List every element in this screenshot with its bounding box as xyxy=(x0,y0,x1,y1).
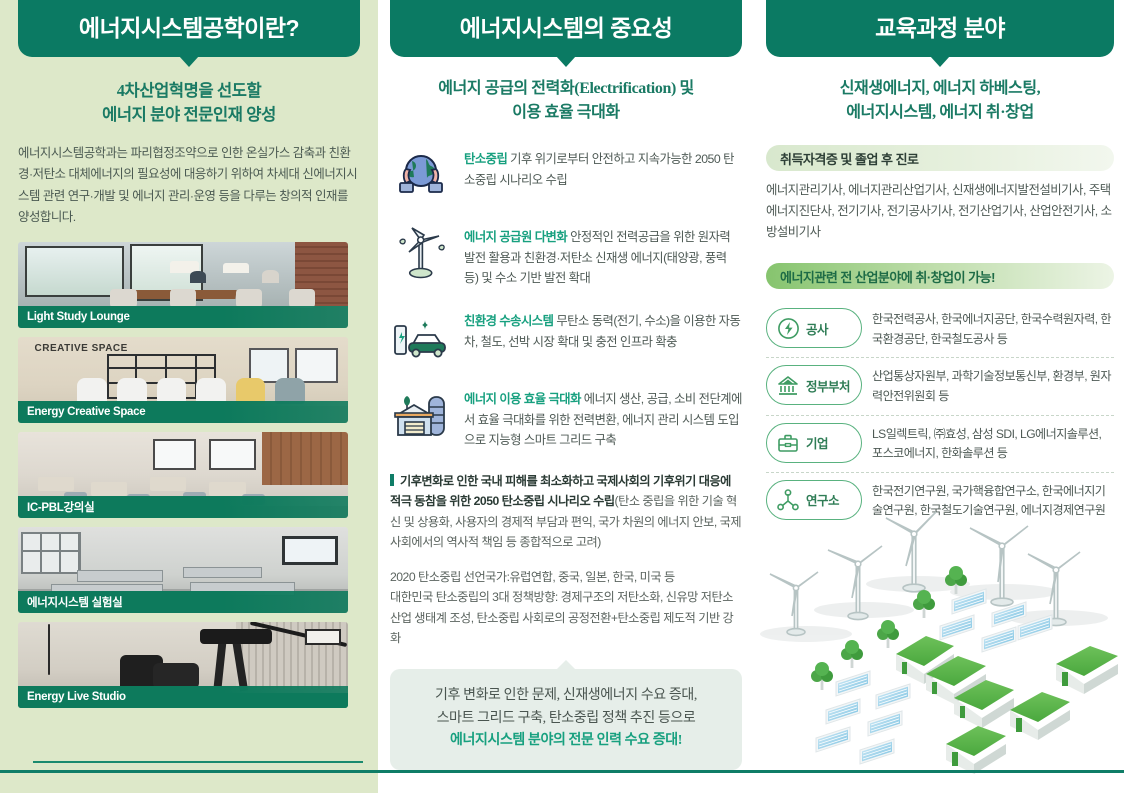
list-item-text: 에너지 이용 효율 극대화 에너지 생산, 공급, 소비 전단계에서 효율 극대… xyxy=(464,387,742,451)
tripod-shape xyxy=(213,637,227,691)
employer-text: 산업통상자원부, 과학기술정보통신부, 환경부, 원자력안전위원회 등 xyxy=(872,365,1114,406)
eco-factory-icon xyxy=(390,387,452,445)
right-subtitle-line2: 에너지시스템, 에너지 취·창업 xyxy=(766,101,1114,125)
left-column: 에너지시스템공학이란? 4차산업혁명을 선도할 에너지 분야 전문인재 양성 에… xyxy=(0,0,378,793)
employer-badge-label: 기업 xyxy=(806,433,828,452)
employer-badge-label: 공사 xyxy=(806,319,828,338)
list-item: 탄소중립 기후 위기로부터 안전하고 지속가능한 2050 탄소중립 시나리오 … xyxy=(390,147,742,205)
photo-card: Light Study Lounge xyxy=(18,242,348,328)
left-divider-rule xyxy=(33,761,363,763)
employer-badge: 정부부처 xyxy=(766,365,862,405)
list-item: 공사 한국전력공사, 한국에너지공단, 한국수력원자력, 한국환경공단, 한국철… xyxy=(766,301,1114,357)
renewable-village-illustration xyxy=(746,492,1124,774)
callout-line2: 스마트 그리드 구축, 탄소중립 정책 추진 등으로 xyxy=(400,708,732,731)
jobs-pill: 에너지관련 전 산업분야에 취·창업이 가능! xyxy=(766,263,1114,289)
studio-light-shape xyxy=(305,629,341,644)
left-section-header: 에너지시스템공학이란? xyxy=(18,0,360,57)
left-subtitle-line2: 에너지 분야 전문인재 양성 xyxy=(18,103,360,127)
wood-wall-shape xyxy=(262,432,348,485)
list-item: 기업 LS일렉트릭, ㈜효성, 삼성 SDI, LG에너지솔루션, 포스코에너지… xyxy=(766,415,1114,472)
right-section-header: 교육과정 분야 xyxy=(766,0,1114,57)
briefcase-icon xyxy=(776,431,800,455)
right-subtitle-line1: 신재생에너지, 에너지 하베스팅, xyxy=(766,77,1114,101)
photo-caption: Energy Live Studio xyxy=(18,686,348,708)
importance-item-list: 탄소중립 기후 위기로부터 안전하고 지속가능한 2050 탄소중립 시나리오 … xyxy=(390,147,742,451)
note-block-2: 2020 탄소중립 선언국가:유럽연합, 중국, 일본, 한국, 미국 등 대한… xyxy=(390,567,742,649)
desk-shape xyxy=(209,482,245,496)
chair-shape xyxy=(170,289,196,308)
certification-pill: 취득자격증 및 졸업 후 진로 xyxy=(766,145,1114,171)
list-item-text: 탄소중립 기후 위기로부터 안전하고 지속가능한 2050 탄소중립 시나리오 … xyxy=(464,147,742,190)
jobs-pill-label: 에너지관련 전 산업분야에 취·창업이 가능! xyxy=(780,267,995,286)
chair-shape xyxy=(110,289,136,308)
left-body-text: 에너지시스템공학과는 파리협정조약으로 인한 온실가스 감축과 친환경·저탄소 … xyxy=(18,143,360,228)
camera-shape xyxy=(200,629,273,644)
government-building-icon xyxy=(776,373,800,397)
cabinet-shape xyxy=(21,532,80,573)
cable-shape xyxy=(48,624,50,676)
right-subtitle: 신재생에너지, 에너지 하베스팅, 에너지시스템, 에너지 취·창업 xyxy=(766,77,1114,125)
photo-caption: IC-PBL강의실 xyxy=(18,496,348,518)
desk-shape xyxy=(38,477,74,491)
note-block-1: 기후변화로 인한 국내 피해를 최소화하고 국제사회의 기후위기 대응에 적극 … xyxy=(390,471,742,553)
left-subtitle-line1: 4차산업혁명을 선도할 xyxy=(18,79,360,103)
list-item-text: 에너지 공급원 다변화 안정적인 전력공급을 위한 원자력 발전 활용과 친환경… xyxy=(464,225,742,289)
middle-column: 에너지시스템의 중요성 에너지 공급의 전력화(Electrification)… xyxy=(390,0,742,770)
photo-caption: Light Study Lounge xyxy=(18,306,348,328)
list-item-text: 친환경 수송시스템 무탄소 동력(전기, 수소)을 이용한 자동차, 철도, 선… xyxy=(464,309,742,352)
earth-in-hands-icon xyxy=(390,147,452,205)
facility-photo-list: Light Study Lounge CREATIVE SPACE Energy xyxy=(18,242,360,708)
certification-text: 에너지관리기사, 에너지관리산업기사, 신재생에너지발전설비기사, 주택에너지진… xyxy=(766,180,1114,243)
bottom-divider-rule xyxy=(0,770,1124,773)
employer-badge-label: 정부부처 xyxy=(806,376,850,395)
callout-line3: 에너지시스템 분야의 전문 인력 수요 증대! xyxy=(400,730,732,753)
lightning-bolt-icon xyxy=(776,316,800,340)
window-shape xyxy=(25,246,124,298)
desk-shape xyxy=(91,482,127,496)
photo-card: IC-PBL강의실 xyxy=(18,432,348,518)
lab-bench-shape xyxy=(183,567,262,578)
photo-card: CREATIVE SPACE Energy Creative Space xyxy=(18,337,348,423)
list-item: 친환경 수송시스템 무탄소 동력(전기, 수소)을 이용한 자동차, 철도, 선… xyxy=(390,309,742,367)
list-item-title: 탄소중립 xyxy=(464,152,507,166)
left-header-text: 에너지시스템공학이란? xyxy=(79,17,299,40)
photo-caption: 에너지시스템 실험실 xyxy=(18,591,348,613)
photo-card: Energy Live Studio xyxy=(18,622,348,708)
photo-caption: Energy Creative Space xyxy=(18,401,348,423)
middle-subtitle: 에너지 공급의 전력화(Electrification) 및 이용 효율 극대화 xyxy=(390,77,742,125)
left-subtitle: 4차산업혁명을 선도할 에너지 분야 전문인재 양성 xyxy=(18,79,360,127)
middle-subtitle-line1: 에너지 공급의 전력화(Electrification) 및 xyxy=(390,77,742,101)
brochure-page: 에너지시스템공학이란? 4차산업혁명을 선도할 에너지 분야 전문인재 양성 에… xyxy=(0,0,1124,793)
lab-bench-shape xyxy=(77,570,163,582)
window-shape xyxy=(153,439,196,470)
list-item-title: 에너지 공급원 다변화 xyxy=(464,230,567,244)
chair-shape xyxy=(289,289,315,308)
list-item: 에너지 공급원 다변화 안정적인 전력공급을 위한 원자력 발전 활용과 친환경… xyxy=(390,225,742,289)
note2-rest: 대한민국 탄소중립의 3대 정책방향: 경제구조의 저탄소화, 신유망 저탄소 … xyxy=(390,590,733,645)
middle-section-header: 에너지시스템의 중요성 xyxy=(390,0,742,57)
employer-text: 한국전력공사, 한국에너지공단, 한국수력원자력, 한국환경공단, 한국철도공사… xyxy=(872,308,1114,349)
note2-bold: 2020 탄소중립 선언국가:유럽연합, 중국, 일본, 한국, 미국 등 xyxy=(390,570,675,584)
callout-line1: 기후 변화로 인한 문제, 신재생에너지 수요 증대, xyxy=(400,685,732,708)
person-shape xyxy=(262,270,279,283)
employer-badge: 기업 xyxy=(766,423,862,463)
window-shape xyxy=(282,536,338,565)
window-shape xyxy=(295,348,338,382)
photo-card: 에너지시스템 실험실 xyxy=(18,527,348,613)
ev-charging-car-icon xyxy=(390,309,452,367)
desk-shape xyxy=(150,477,186,491)
list-item: 정부부처 산업통상자원부, 과학기술정보통신부, 환경부, 원자력안전위원회 등 xyxy=(766,357,1114,414)
right-header-text: 교육과정 분야 xyxy=(875,17,1005,40)
conclusion-callout: 기후 변화로 인한 문제, 신재생에너지 수요 증대, 스마트 그리드 구축, … xyxy=(390,669,742,770)
list-item-title: 에너지 이용 효율 극대화 xyxy=(464,392,581,406)
wind-turbine-icon xyxy=(390,225,452,283)
photo-overlay-text: CREATIVE SPACE xyxy=(35,343,128,354)
bullet-bar-icon xyxy=(390,474,394,486)
employer-text: LS일렉트릭, ㈜효성, 삼성 SDI, LG에너지솔루션, 포스코에너지, 한… xyxy=(872,423,1114,464)
window-shape xyxy=(209,439,255,470)
middle-header-text: 에너지시스템의 중요성 xyxy=(460,17,673,40)
chair-shape xyxy=(236,289,262,308)
lamp-shape xyxy=(223,263,249,273)
list-item-title: 친환경 수송시스템 xyxy=(464,314,553,328)
employer-badge: 공사 xyxy=(766,308,862,348)
middle-subtitle-line2: 이용 효율 극대화 xyxy=(390,101,742,125)
list-item: 에너지 이용 효율 극대화 에너지 생산, 공급, 소비 전단계에서 효율 극대… xyxy=(390,387,742,451)
right-column: 교육과정 분야 신재생에너지, 에너지 하베스팅, 에너지시스템, 에너지 취·… xyxy=(766,0,1114,529)
certification-pill-label: 취득자격증 및 졸업 후 진로 xyxy=(780,149,919,168)
person-shape xyxy=(190,271,207,283)
